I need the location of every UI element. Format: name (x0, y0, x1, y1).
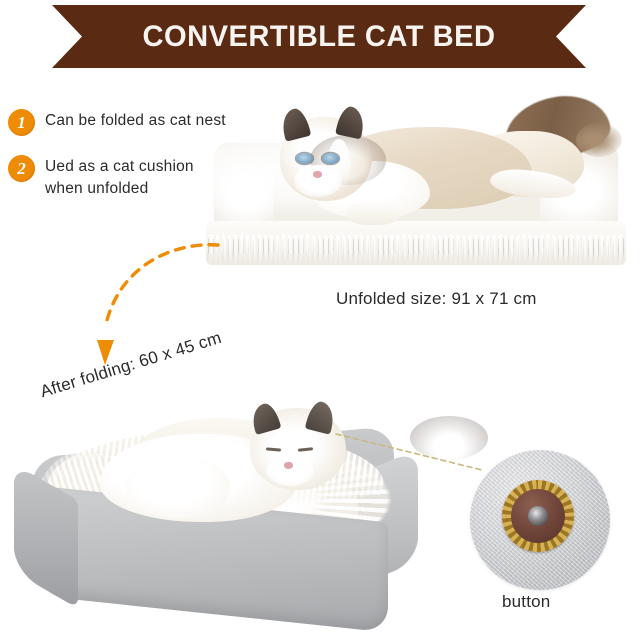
button-stud-center (528, 506, 548, 526)
photo-folded-bed (0, 360, 470, 635)
caption-button: button (502, 592, 550, 612)
cat-nose (313, 171, 322, 178)
caption-unfolded-size: Unfolded size: 91 x 71 cm (336, 289, 537, 309)
cat-muzzle (266, 456, 314, 486)
cat-nose (284, 462, 293, 469)
cat-eye-right (322, 153, 339, 164)
bullet-number-1: 1 (8, 109, 35, 136)
cat-muzzle (294, 165, 342, 197)
bullet-number-2: 2 (8, 155, 35, 182)
photo-unfolded-mat (196, 95, 640, 295)
title-ribbon: CONVERTIBLE CAT BED (52, 5, 586, 68)
cat-eye-left (296, 153, 313, 164)
cat-front-paw (346, 199, 400, 225)
cat-sleeping (100, 404, 360, 534)
cat-tail-tip (576, 123, 622, 157)
feature-text-2: Ued as a cat cushion when unfolded (45, 154, 194, 201)
cat-awake (258, 101, 608, 231)
page-title: CONVERTIBLE CAT BED (142, 22, 495, 52)
cat-ear-left (279, 106, 311, 141)
cat-curled-limbs (126, 456, 230, 518)
button-closeup-inset (470, 450, 610, 590)
infographic-page: CONVERTIBLE CAT BED 1 Can be folded as c… (0, 0, 640, 635)
mat-fringe-highlight (208, 235, 624, 261)
callout-connector-line (330, 420, 490, 490)
